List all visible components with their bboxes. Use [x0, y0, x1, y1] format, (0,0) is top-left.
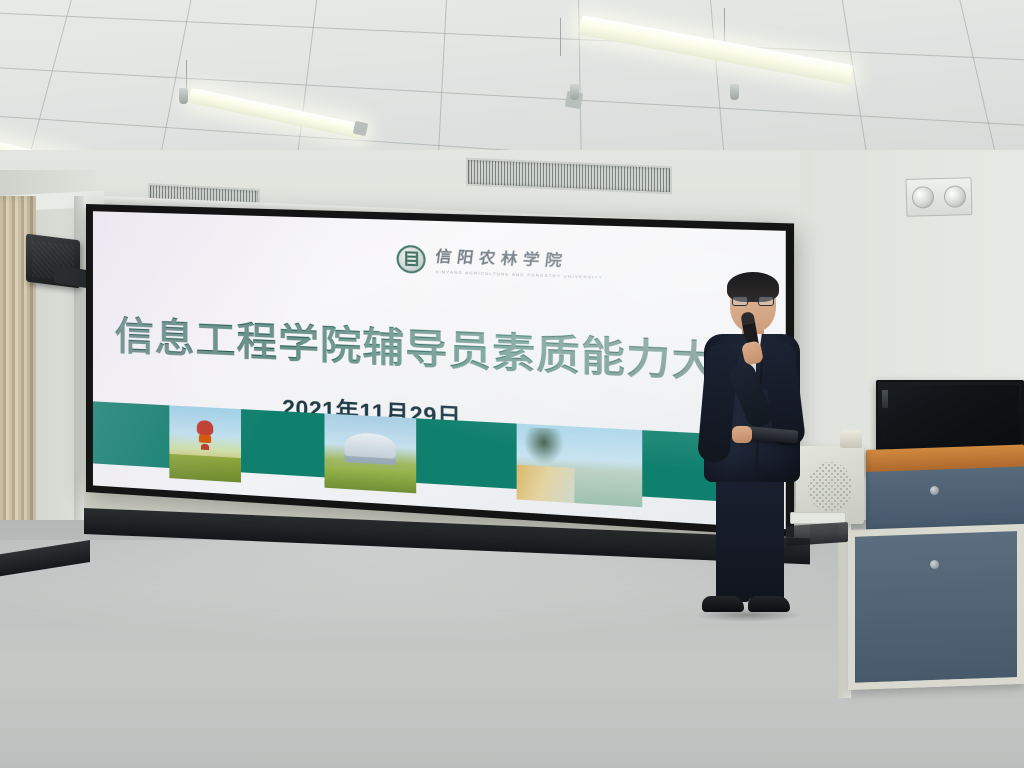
- emblem-glyph-icon: [405, 252, 418, 267]
- university-logo: 信阳农林学院 XINYANG AGRICULTURE AND FORESTRY …: [397, 244, 603, 280]
- ceiling-drop-rod: [560, 18, 561, 56]
- presenter: [686, 276, 806, 628]
- presenter-leg-right: [750, 474, 784, 602]
- accent-block-1: [93, 401, 169, 468]
- av-cabinet[interactable]: [848, 524, 1024, 690]
- sprinkler-head: [730, 84, 739, 100]
- monitor-badge-icon: [882, 390, 888, 408]
- lectern-lock-icon[interactable]: [930, 486, 939, 495]
- sprinkler-head: [570, 84, 579, 100]
- cabinet-lock-icon[interactable]: [930, 560, 939, 569]
- campus-lakeside-photo: [517, 424, 643, 508]
- campus-pavilion-photo: [169, 405, 241, 482]
- slide-title: 信息工程学院辅导员素质能力大赛: [115, 305, 765, 392]
- presenter-shoe-right: [748, 596, 790, 612]
- ceiling-light-endcap: [353, 121, 368, 136]
- university-logo-text: 信阳农林学院 XINYANG AGRICULTURE AND FORESTRY …: [435, 245, 602, 280]
- emergency-light-fixture: [906, 177, 973, 217]
- accent-block-2: [241, 409, 324, 477]
- sprinkler-head: [179, 88, 188, 104]
- flat-screen-monitor[interactable]: [876, 380, 1024, 454]
- presenter-hand-lower: [732, 426, 752, 443]
- monitor-screen: [881, 385, 1019, 449]
- university-name-cn: 信阳农林学院: [434, 245, 604, 273]
- cabinet-knob-icon[interactable]: [840, 430, 862, 448]
- presenter-shoe-left: [702, 596, 744, 612]
- speaker-grille-icon: [808, 462, 852, 512]
- campus-building-photo: [324, 414, 416, 494]
- emergency-lamp: [912, 186, 935, 209]
- accent-block-3: [416, 418, 516, 489]
- eyeglasses-icon: [732, 296, 774, 306]
- emergency-lamp: [944, 185, 967, 208]
- presenter-leg-left: [716, 474, 750, 602]
- photo-scene: 信阳农林学院 XINYANG AGRICULTURE AND FORESTRY …: [0, 0, 1024, 768]
- university-emblem-icon: [397, 245, 426, 274]
- presentation-slide: 信阳农林学院 XINYANG AGRICULTURE AND FORESTRY …: [93, 211, 786, 529]
